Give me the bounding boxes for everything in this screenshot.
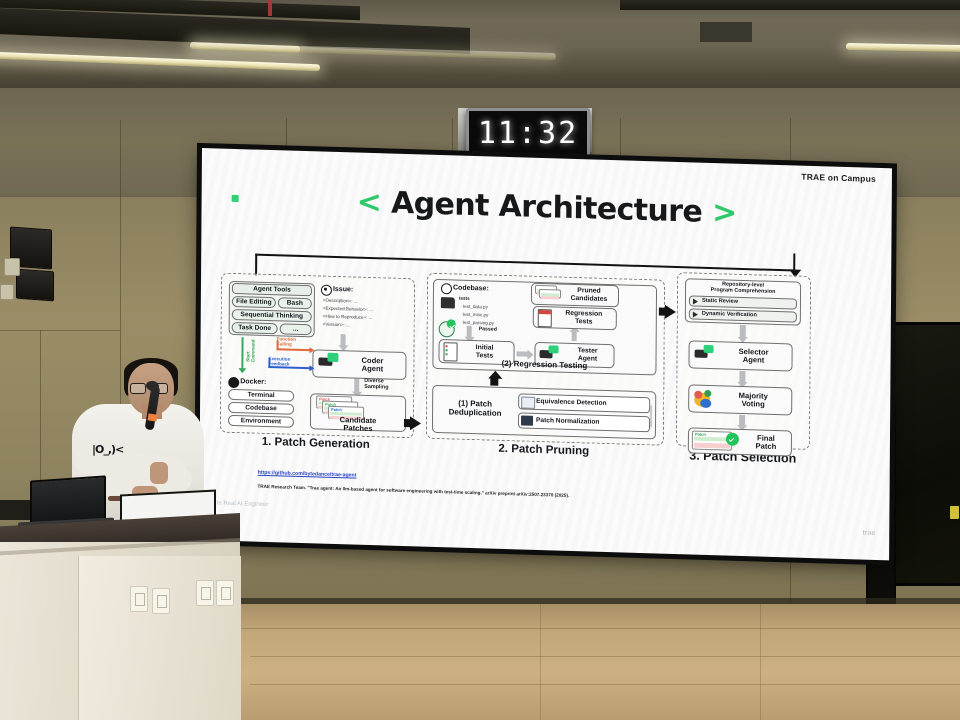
tester-to-regression-arrow bbox=[572, 331, 577, 341]
slide: TRAE on Campus < Agent Architecture > bbox=[199, 148, 892, 560]
wall-outlet-2[interactable] bbox=[152, 588, 170, 614]
dedup-to-regression-arrowhead bbox=[488, 370, 502, 378]
architecture-diagram: 1. Patch Generation Agent Tools File Edi… bbox=[214, 236, 876, 473]
floor-seam bbox=[250, 684, 960, 685]
ceiling-beam-3 bbox=[620, 0, 960, 10]
play-icon bbox=[693, 298, 698, 304]
diverse-sampling-arrow bbox=[354, 379, 359, 393]
agent-tools-header: Agent Tools bbox=[232, 283, 312, 296]
wall-outlet-1[interactable] bbox=[130, 586, 148, 612]
github-icon bbox=[441, 283, 452, 294]
pruned-candidates-label: Pruned Candidates bbox=[561, 285, 617, 307]
function-calling-arrowhead bbox=[309, 347, 314, 353]
regression-tests-label: Regression Tests bbox=[553, 308, 615, 328]
ceiling-vent bbox=[700, 22, 752, 42]
presenter-shirt-text: |O_,)< bbox=[92, 443, 180, 457]
voting-dot-blue bbox=[700, 399, 711, 408]
final-patch-label: Final Patch bbox=[742, 432, 790, 453]
coder-agent-label: Coder Agent bbox=[342, 353, 402, 377]
floor-seam bbox=[250, 656, 960, 657]
loop-arrow-left bbox=[255, 254, 258, 276]
tool-sequential-thinking[interactable]: Sequential Thinking bbox=[232, 309, 312, 322]
floor-seam bbox=[760, 604, 761, 720]
wall-plate-2 bbox=[0, 284, 14, 300]
docker-terminal[interactable]: Terminal bbox=[228, 389, 294, 402]
bracket-left-icon: < bbox=[357, 185, 382, 221]
repo-link[interactable]: https://github.com/bytedance/trae-agent bbox=[258, 470, 357, 479]
wall-outlet-4[interactable] bbox=[216, 580, 234, 606]
tool-more[interactable]: ... bbox=[280, 323, 312, 335]
wall-plate bbox=[4, 258, 20, 276]
voting-dot-red bbox=[694, 391, 702, 399]
codebase-tree-1: test_data.py bbox=[463, 304, 488, 311]
diverse-sampling-label: Diverse Sampling bbox=[364, 379, 388, 392]
play-icon bbox=[693, 311, 698, 317]
tool-bash[interactable]: Bash bbox=[278, 297, 312, 309]
selector-agent-label: Selector Agent bbox=[716, 345, 790, 367]
start-command-arrowhead bbox=[238, 368, 246, 373]
candidate-patches-label: Candidate Patches bbox=[310, 415, 406, 434]
final-check-icon bbox=[726, 433, 739, 446]
presenter-hand-mic bbox=[150, 462, 168, 484]
page-title: < Agent Architecture > bbox=[201, 180, 891, 235]
wall-trim bbox=[0, 330, 120, 331]
slide-footer-left: The Real AI Engineer bbox=[211, 500, 268, 508]
glasses-left-lens-icon bbox=[130, 383, 146, 394]
majority-voting-label: Majority Voting bbox=[716, 389, 790, 411]
codebase-header: Codebase: bbox=[453, 284, 489, 292]
execution-feedback-label: Execution Feedback bbox=[268, 356, 290, 367]
docker-icon bbox=[228, 377, 239, 388]
lecture-hall-photo: 11:32 TRAE on Campus < Agent Architectur… bbox=[0, 0, 960, 720]
podium-equipment bbox=[0, 500, 30, 520]
issue-header: Issue: bbox=[333, 286, 353, 294]
check-icon bbox=[447, 319, 456, 328]
slide-footer-logo: trae bbox=[862, 530, 875, 537]
voting-dot-green bbox=[704, 390, 711, 397]
docker-codebase[interactable]: Codebase bbox=[228, 402, 294, 415]
robot-chat-icon bbox=[704, 345, 714, 353]
section2-to-3-arrowhead bbox=[665, 305, 676, 319]
start-command-arrow bbox=[241, 337, 244, 369]
codebase-tree-2: test_misc.py bbox=[463, 312, 489, 319]
slide-title-text: Agent Architecture bbox=[391, 186, 702, 230]
slide-brand-tag: TRAE on Campus bbox=[801, 172, 876, 184]
floor-seam bbox=[540, 604, 541, 720]
tool-file-editing[interactable]: File Editing bbox=[232, 296, 276, 308]
citation-text: TRAE Research Team. "Trae agent: An llm-… bbox=[257, 484, 569, 498]
patch-dedup-label: (1) Patch Deduplication bbox=[436, 393, 514, 425]
issue-icon bbox=[321, 285, 332, 296]
function-calling-label: Function Calling bbox=[277, 336, 296, 347]
tool-task-done[interactable]: Task Done bbox=[232, 322, 278, 334]
bracket-right-icon: > bbox=[712, 195, 737, 231]
equivalence-icon bbox=[521, 396, 535, 408]
sticky-note bbox=[950, 506, 959, 519]
floor-seam bbox=[240, 628, 960, 629]
dedup-loop-arrow bbox=[650, 405, 652, 427]
wall-outlet-3[interactable] bbox=[196, 580, 214, 606]
robot-chat-icon bbox=[549, 345, 559, 353]
folder-icon bbox=[441, 297, 455, 308]
projection-screen: TRAE on Campus < Agent Architecture > bbox=[198, 146, 898, 546]
robot-chat-icon bbox=[327, 353, 338, 362]
docker-environment[interactable]: Environment bbox=[228, 415, 294, 428]
start-command-label: Start Command bbox=[245, 339, 255, 362]
pruned-patch-card-2 bbox=[539, 289, 561, 299]
wall-speaker-2 bbox=[16, 269, 54, 302]
sprinkler-pipe bbox=[268, 0, 272, 16]
microphone-band bbox=[148, 413, 158, 421]
test-report-icon bbox=[538, 309, 552, 327]
passed-label: Passed bbox=[479, 326, 497, 334]
section1-to-2-arrow bbox=[404, 419, 412, 427]
execution-feedback-arrowhead bbox=[309, 365, 314, 371]
loop-arrow-top bbox=[255, 254, 795, 272]
codebase-tree-root: tests bbox=[459, 296, 470, 303]
docker-header: Docker: bbox=[240, 378, 266, 386]
normalization-icon bbox=[521, 415, 533, 425]
